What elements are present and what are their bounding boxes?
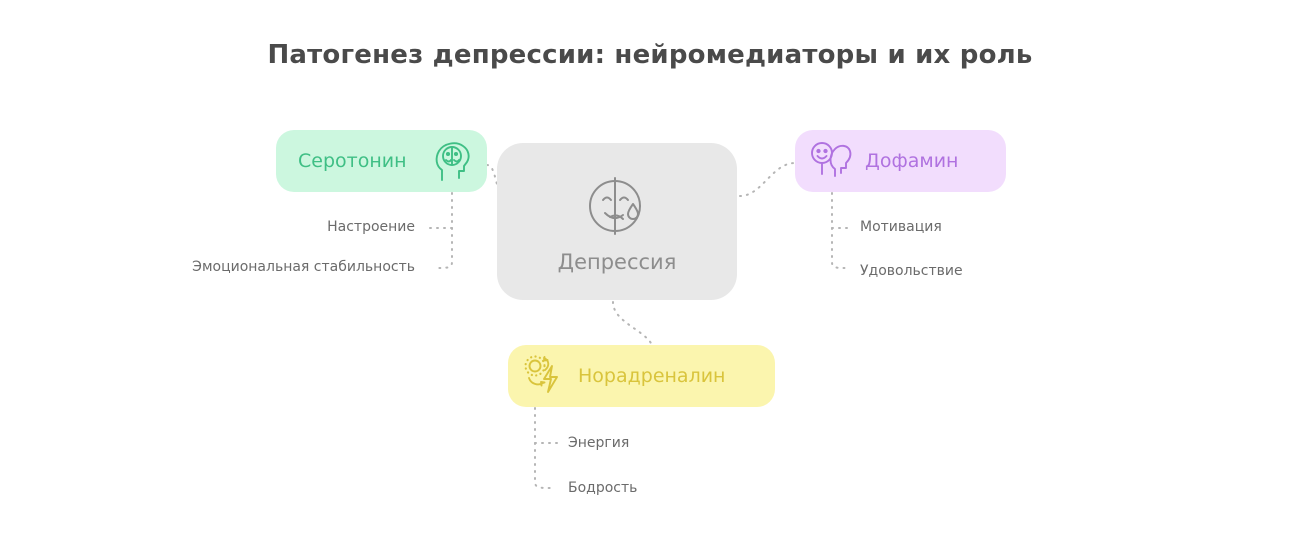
- connector-serotonin-item-1: [437, 228, 452, 268]
- connector-center-noradrenalin: [613, 302, 652, 345]
- connector-center-dofamin: [740, 163, 795, 196]
- connector-dofamin-item-0: [832, 193, 852, 228]
- connector-noradrenalin-item-1: [535, 443, 551, 488]
- node-dofamin-label: Дофамин: [865, 150, 958, 172]
- sun-bolt-icon: [522, 354, 568, 398]
- head-face-icon: [433, 140, 473, 182]
- page-title: Патогенез депрессии: нейромедиаторы и их…: [0, 40, 1300, 70]
- sublabel-dofamin-0: Мотивация: [860, 219, 942, 235]
- node-noradrenalin[interactable]: Норадреналин: [508, 345, 775, 407]
- connector-noradrenalin-item-0: [535, 408, 557, 443]
- split-face-icon: [581, 170, 653, 242]
- sublabel-dofamin-1: Удовольствие: [860, 263, 963, 279]
- node-noradrenalin-label: Норадреналин: [578, 365, 725, 387]
- sublabel-serotonin-0: Настроение: [115, 219, 415, 235]
- node-depression[interactable]: Депрессия: [497, 143, 737, 300]
- node-dofamin[interactable]: Дофамин: [795, 130, 1006, 192]
- connector-serotonin-item-0: [425, 193, 452, 228]
- node-depression-label: Депрессия: [558, 250, 677, 274]
- diagram-canvas: Патогенез депрессии: нейромедиаторы и их…: [0, 0, 1300, 546]
- sublabel-noradrenalin-0: Энергия: [568, 435, 629, 451]
- connector-dofamin-item-1: [832, 228, 847, 268]
- node-serotonin[interactable]: Серотонин: [276, 130, 487, 192]
- sublabel-noradrenalin-1: Бодрость: [568, 480, 637, 496]
- sublabel-serotonin-1: Эмоциональная стабильность: [115, 259, 415, 275]
- node-serotonin-label: Серотонин: [298, 150, 407, 172]
- smiley-head-icon: [809, 140, 853, 182]
